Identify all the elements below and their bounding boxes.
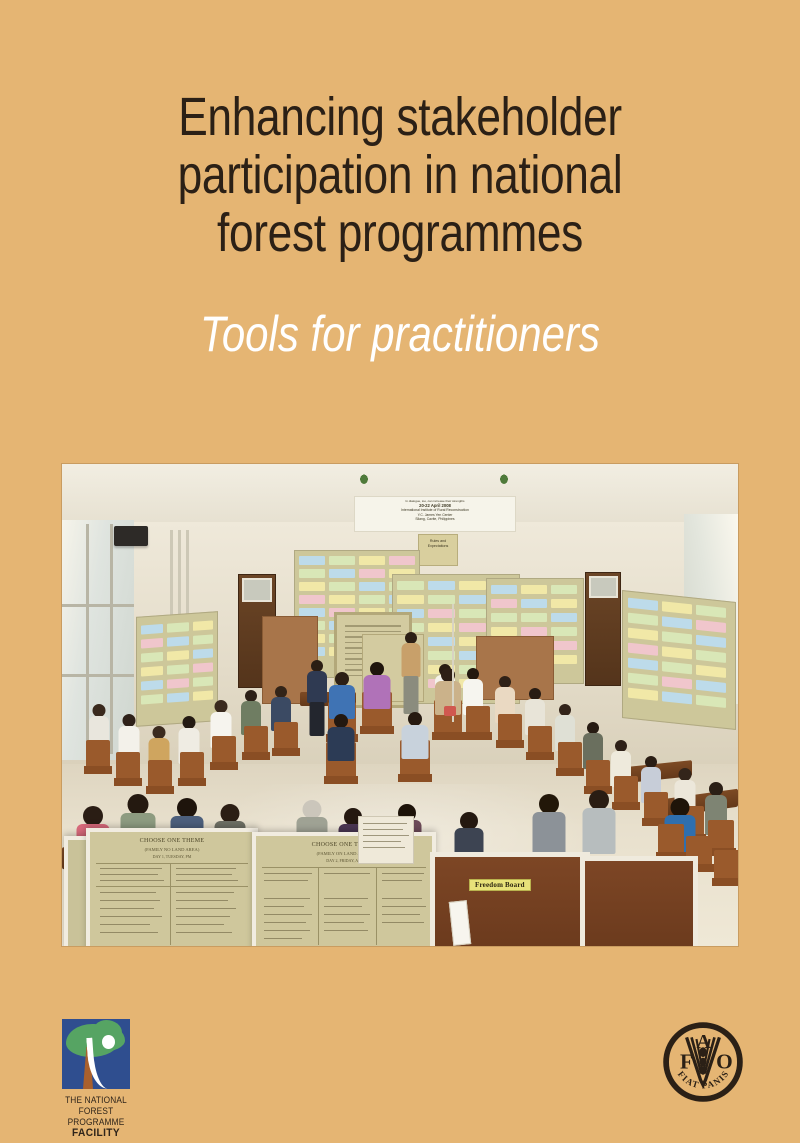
participant-inner [400, 712, 430, 760]
page-subtitle: Tools for practitioners [64, 306, 736, 362]
fao-logo: F A O FIAT PANIS [662, 1021, 744, 1103]
door-window [589, 576, 618, 598]
publication-cover: Enhancing stakeholder participation in n… [0, 0, 800, 1143]
participant-foreground [532, 794, 566, 854]
svg-text:F: F [680, 1050, 693, 1074]
freedom-board-label: Freedom Board [469, 879, 531, 891]
card-board [136, 611, 218, 727]
door-window [242, 578, 272, 602]
participant-inner [362, 662, 392, 710]
nfp-line-3: FACILITY [63, 1128, 129, 1139]
banner-leaf-icon [498, 472, 510, 484]
moon-icon [102, 1035, 115, 1049]
wall-speaker [114, 526, 148, 546]
stand-pole [452, 604, 454, 722]
page-title: Enhancing stakeholder participation in n… [72, 88, 728, 262]
nfp-facility-logo: THE NATIONAL FOREST PROGRAMME FACILITY [60, 1019, 132, 1139]
participant-inner [328, 672, 356, 720]
photo-banner: In dialogue, too, can increase their str… [354, 496, 516, 532]
participant-standing [306, 660, 328, 738]
freedom-board: Freedom Board [430, 852, 590, 946]
photo-wall-sign: Rules andExpectations [418, 534, 458, 566]
svg-text:A: A [696, 1031, 711, 1053]
pinned-note [449, 900, 472, 946]
freedom-board-right [580, 856, 698, 946]
window-mullion [110, 524, 113, 754]
title-line-2: participation in national [72, 146, 728, 204]
nfp-facility-wordmark: THE NATIONAL FOREST PROGRAMME FACILITY [63, 1095, 129, 1139]
red-bag [444, 706, 456, 716]
note-sheet [358, 816, 414, 864]
cover-photo-scene: In dialogue, too, can increase their str… [62, 464, 738, 946]
title-line-1: Enhancing stakeholder [72, 88, 728, 146]
participant-inner [326, 714, 356, 762]
fao-emblem-icon: F A O FIAT PANIS [662, 1021, 744, 1103]
participant-foreground [582, 790, 616, 852]
flipchart-left-day: DAY 1, TUESDAY, PM [90, 854, 254, 859]
nfp-line-2: FOREST PROGRAMME [63, 1106, 129, 1128]
flipchart-left: CHOOSE ONE THEME (FAMILY NO LAND AREA) D… [86, 828, 258, 946]
flipchart-left-heading: CHOOSE ONE THEME [90, 838, 254, 844]
flipchart-left-subheading: (FAMILY NO LAND AREA) [90, 847, 254, 852]
window-rail [62, 674, 134, 677]
title-line-3: forest programmes [72, 204, 728, 262]
card-board [622, 590, 736, 730]
banner-leaf-icon [358, 472, 370, 484]
nfp-tree-icon [62, 1019, 130, 1089]
banner-line-5: Silang, Cavite, Philippines [355, 517, 515, 522]
cover-photo: In dialogue, too, can increase their str… [62, 464, 738, 946]
window-rail [62, 604, 134, 607]
facilitator-standing [400, 632, 422, 716]
nfp-line-1: THE NATIONAL [63, 1095, 129, 1106]
title-block: Enhancing stakeholder participation in n… [0, 88, 800, 362]
